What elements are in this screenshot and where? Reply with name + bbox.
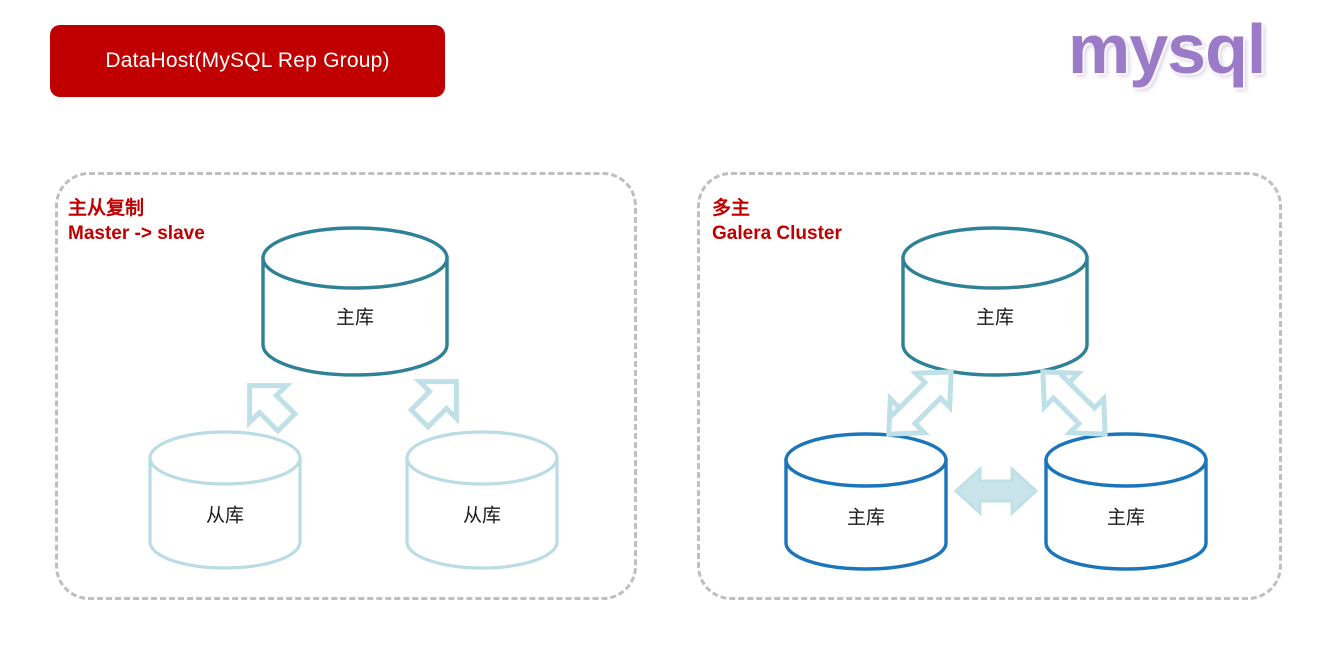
db-label-master-bottom-left: 主库 [847, 503, 885, 530]
db-cylinder-master-left [263, 228, 447, 375]
sync-arrow-left-icon [872, 355, 968, 451]
diagram-canvas: DataHost(MySQL Rep Group) mysql 主从复制 Mas… [0, 0, 1332, 647]
replication-arrow-left-icon [231, 367, 305, 441]
db-label-slave-right: 从库 [463, 501, 501, 528]
sync-arrow-horizontal-icon [956, 469, 1036, 513]
replication-arrow-right-icon [401, 363, 475, 437]
db-label-slave-left: 从库 [206, 501, 244, 528]
sync-arrow-right-icon [1026, 355, 1122, 451]
db-label-master-top-right: 主库 [976, 303, 1014, 330]
db-label-master-bottom-right: 主库 [1107, 503, 1145, 530]
db-cylinder-master-bottom-left [786, 434, 946, 569]
db-label-master-left: 主库 [336, 303, 374, 330]
db-cylinder-master-top-right [903, 228, 1087, 375]
diagram-vector-layer [0, 0, 1332, 647]
db-cylinder-master-bottom-right [1046, 434, 1206, 569]
